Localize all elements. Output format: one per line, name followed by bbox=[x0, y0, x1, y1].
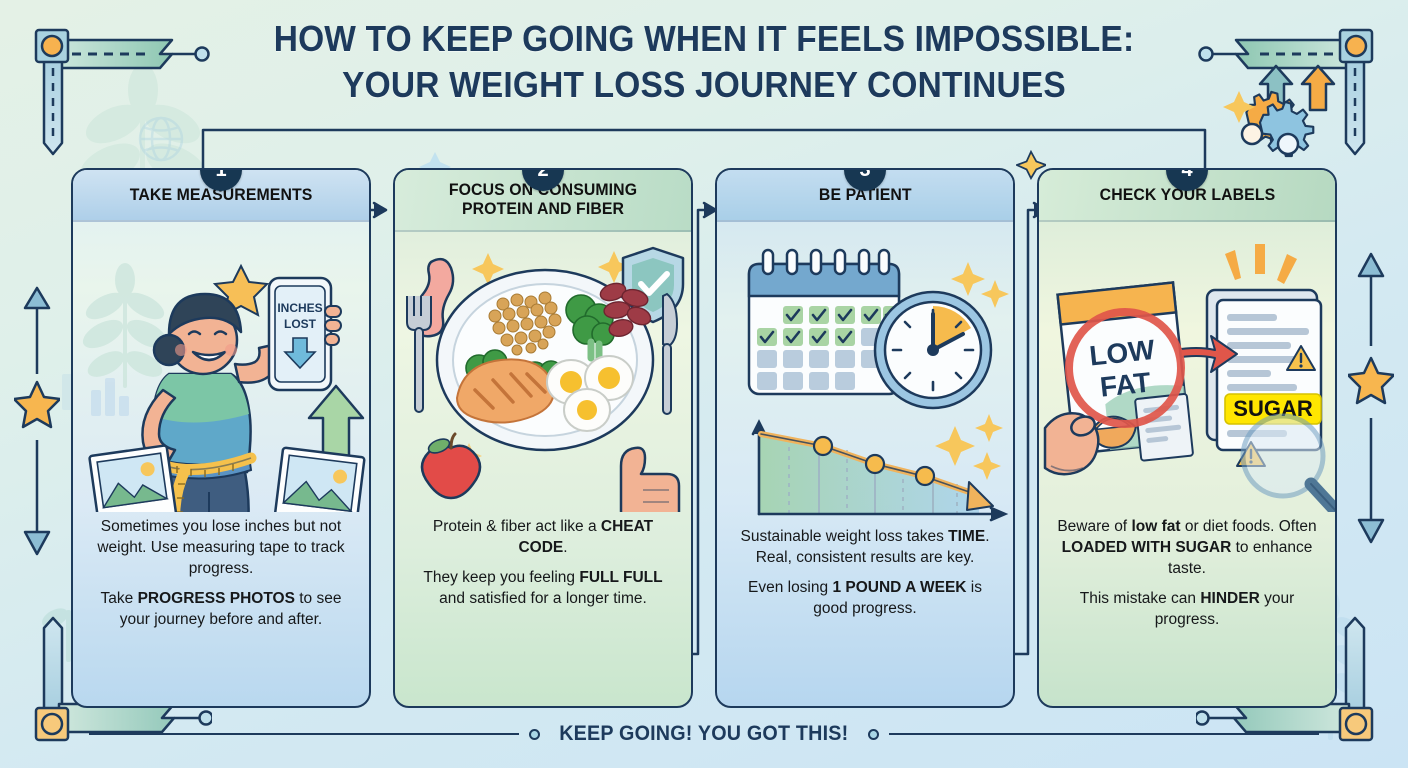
step-body-4: Beware of low fat or diet foods. Often L… bbox=[1039, 512, 1335, 649]
title-line-2: YOUR WEIGHT LOSS JOURNEY CONTINUES bbox=[49, 62, 1358, 108]
progress-photo-left bbox=[89, 445, 176, 512]
leaf-decor-icon bbox=[78, 263, 171, 388]
phone-label-lost: LOST bbox=[284, 317, 317, 331]
knife-icon bbox=[663, 294, 677, 414]
sparkle-icon-5 bbox=[973, 452, 1001, 480]
step-art-2 bbox=[395, 232, 691, 512]
step-art-1: INCHES LOST bbox=[73, 222, 369, 512]
step-body-2: Protein & fiber act like a CHEAT CODE.Th… bbox=[395, 512, 691, 628]
footer-text: KEEP GOING! YOU GOT THIS! bbox=[559, 722, 848, 746]
apple-icon bbox=[422, 434, 480, 498]
footer-line-left bbox=[89, 733, 519, 735]
body-paragraph: Beware of low fat or diet foods. Often L… bbox=[1053, 516, 1321, 579]
step-card-3[interactable]: 3 BE PATIENT bbox=[715, 168, 1015, 708]
hand-holding-package bbox=[1045, 413, 1098, 474]
sparkle-icon-4 bbox=[975, 414, 1003, 442]
page-title: HOW TO KEEP GOING WHEN IT FEELS IMPOSSIB… bbox=[0, 16, 1408, 108]
thumbs-up-icon bbox=[621, 448, 679, 512]
clock-icon bbox=[875, 292, 991, 408]
step-art-4: SUGAR bbox=[1039, 222, 1335, 512]
footer-dot-left bbox=[529, 729, 540, 740]
body-paragraph: Even losing 1 POUND A WEEK is good progr… bbox=[731, 577, 999, 619]
body-paragraph: They keep you feeling FULL FULL and sati… bbox=[409, 567, 677, 609]
step-body-1: Sometimes you lose inches but not weight… bbox=[73, 512, 369, 649]
step-body-3: Sustainable weight loss takes TIME. Real… bbox=[717, 522, 1013, 638]
progress-photo-right bbox=[274, 447, 364, 512]
sparkle-icon-2 bbox=[981, 280, 1009, 308]
calendar-icon bbox=[749, 250, 899, 394]
body-paragraph: Protein & fiber act like a CHEAT CODE. bbox=[409, 516, 677, 558]
footer-bar: KEEP GOING! YOU GOT THIS! bbox=[0, 722, 1408, 746]
infographic-canvas: HOW TO KEEP GOING WHEN IT FEELS IMPOSSIB… bbox=[0, 0, 1408, 768]
chart-point-1 bbox=[814, 437, 832, 455]
body-paragraph: Sometimes you lose inches but not weight… bbox=[87, 516, 355, 579]
phone-label-inches: INCHES bbox=[277, 301, 322, 315]
step-card-1[interactable]: 1 TAKE MEASUREMENTS bbox=[71, 168, 371, 708]
steps-container: 1 TAKE MEASUREMENTS bbox=[0, 168, 1408, 708]
body-paragraph: This mistake can HINDER your progress. bbox=[1053, 588, 1321, 630]
sparkle-icon bbox=[951, 262, 985, 296]
fork-icon bbox=[407, 296, 431, 412]
footer-dot-right bbox=[868, 729, 879, 740]
title-line-1: HOW TO KEEP GOING WHEN IT FEELS IMPOSSIB… bbox=[49, 16, 1358, 62]
phone-inches-lost: INCHES LOST bbox=[269, 278, 341, 390]
sparkle-icon-3 bbox=[935, 426, 975, 466]
weight-loss-line-chart bbox=[753, 422, 1005, 520]
step-art-3 bbox=[717, 222, 1013, 522]
chart-point-2 bbox=[866, 455, 884, 473]
burst-icon bbox=[1225, 244, 1297, 284]
step-card-4[interactable]: 4 CHECK YOUR LABELS bbox=[1037, 168, 1337, 708]
body-paragraph: Sustainable weight loss takes TIME. Real… bbox=[731, 526, 999, 568]
footer-line-right bbox=[889, 733, 1319, 735]
body-paragraph: Take PROGRESS PHOTOS to see your journey… bbox=[87, 588, 355, 630]
chart-point-3 bbox=[916, 467, 934, 485]
step-card-2[interactable]: 2 FOCUS ON CONSUMING PROTEIN AND FIBER bbox=[393, 168, 693, 708]
package-label-fat: FAT bbox=[1098, 367, 1152, 403]
